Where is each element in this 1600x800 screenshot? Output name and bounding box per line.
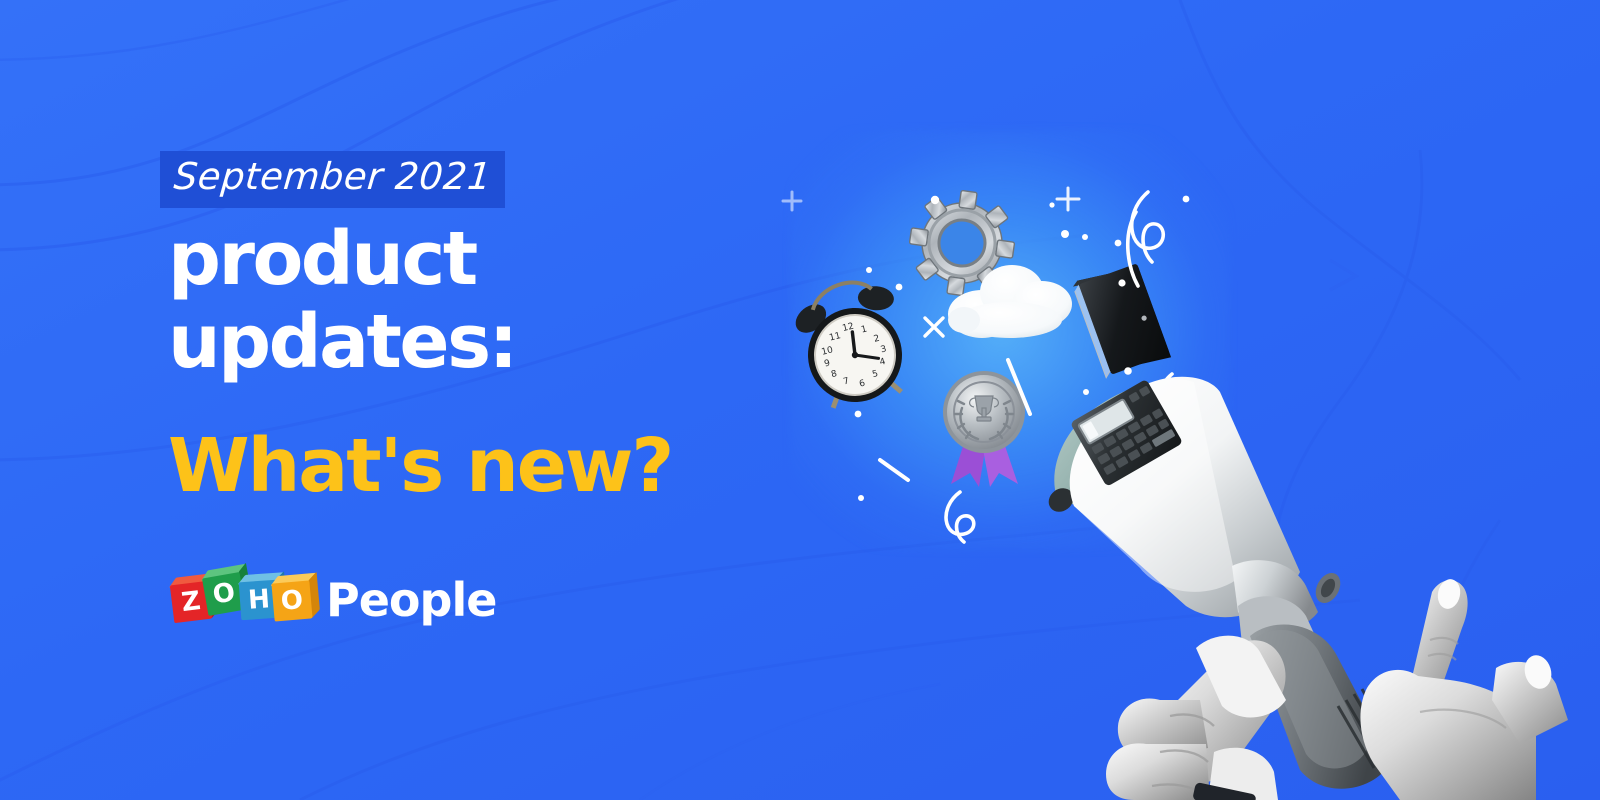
logo-cube-z-letter: Z — [180, 588, 202, 616]
date-label: September 2021 — [172, 155, 493, 199]
logo-cube-o-green-letter: O — [211, 579, 237, 608]
text-column: September 2021 product updates: What's n… — [0, 0, 760, 800]
headline-line-1: product — [168, 216, 476, 302]
zoho-cube-logo: Z O H O — [172, 569, 312, 631]
date-badge: September 2021 — [160, 151, 505, 208]
logo-cube-h-letter: H — [247, 586, 271, 613]
subheadline: What's new? — [168, 424, 672, 508]
promo-banner: September 2021 product updates: What's n… — [0, 0, 1600, 800]
page-title: product updates: — [168, 218, 768, 384]
logo-cube-o-yellow: O — [271, 580, 312, 621]
brand-product-name: People — [326, 577, 496, 623]
logo-cube-o-yellow-letter: O — [280, 587, 304, 615]
brand-logo: Z O H O People — [172, 567, 496, 633]
headline-line-2: updates: — [168, 301, 768, 384]
